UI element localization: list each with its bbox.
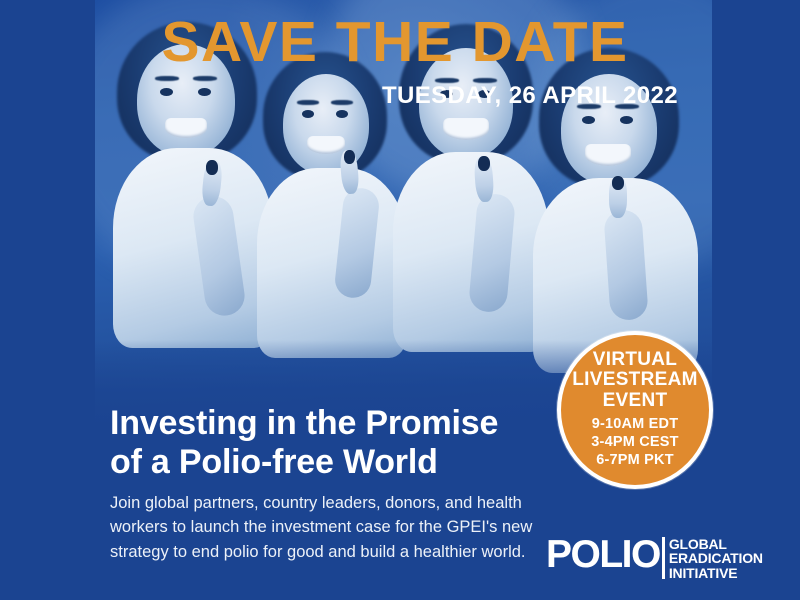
child-3-smile — [443, 118, 489, 140]
child-2-ink-mark — [344, 150, 355, 164]
virtual-livestream-badge: VIRTUAL LIVESTREAM EVENT 9-10AM EDT 3-4P… — [557, 331, 713, 489]
badge-title-line-1: VIRTUAL — [572, 350, 697, 370]
logo-divider-rule — [662, 537, 665, 579]
badge-time-pkt: 6-7PM PKT — [591, 452, 678, 470]
child-2-eye-right — [336, 110, 348, 118]
poster-body-copy: Join global partners, country leaders, d… — [110, 491, 565, 564]
page-title: SAVE THE DATE — [95, 14, 695, 71]
logo-subtitle: GLOBAL ERADICATION INITIATIVE — [669, 536, 763, 580]
badge-title: VIRTUAL LIVESTREAM EVENT — [572, 350, 697, 410]
child-4-eye-right — [620, 116, 633, 124]
child-1-ink-mark — [206, 160, 218, 175]
headline-line-1: Investing in the Promise — [110, 404, 580, 443]
badge-title-line-2: LIVESTREAM — [572, 370, 697, 390]
logo-subtitle-line-2: ERADICATION — [669, 551, 763, 565]
child-1-torso — [113, 148, 273, 348]
child-2-eye-left — [302, 110, 314, 118]
save-the-date-poster: Investing in the Promise of a Polio-free… — [0, 0, 800, 600]
child-3-ink-mark — [478, 156, 490, 171]
child-4-eye-left — [582, 116, 595, 124]
poster-headline: Investing in the Promise of a Polio-free… — [110, 404, 580, 483]
event-date: TUESDAY, 26 APRIL 2022 — [95, 82, 695, 110]
child-4-smile — [585, 144, 631, 166]
child-2-torso — [257, 168, 407, 358]
child-1-brow-right — [193, 76, 217, 81]
logo-wordmark: POLIO — [546, 536, 660, 573]
logo-subtitle-line-3: INITIATIVE — [669, 566, 763, 580]
child-3-torso — [393, 152, 549, 352]
child-2-smile — [307, 136, 345, 154]
child-1-smile — [165, 118, 207, 138]
child-4-arm — [603, 209, 649, 321]
gpei-logo: POLIO GLOBAL ERADICATION INITIATIVE — [546, 536, 763, 580]
child-4-ink-mark — [612, 176, 624, 190]
badge-time-cest: 3-4PM CEST — [591, 434, 678, 452]
badge-title-line-3: EVENT — [572, 391, 697, 411]
headline-line-2: of a Polio-free World — [110, 443, 580, 482]
logo-subtitle-line-1: GLOBAL — [669, 537, 763, 551]
child-1-brow-left — [155, 76, 179, 81]
badge-times: 9-10AM EDT 3-4PM CEST 6-7PM PKT — [591, 416, 678, 470]
badge-time-edt: 9-10AM EDT — [591, 416, 678, 434]
